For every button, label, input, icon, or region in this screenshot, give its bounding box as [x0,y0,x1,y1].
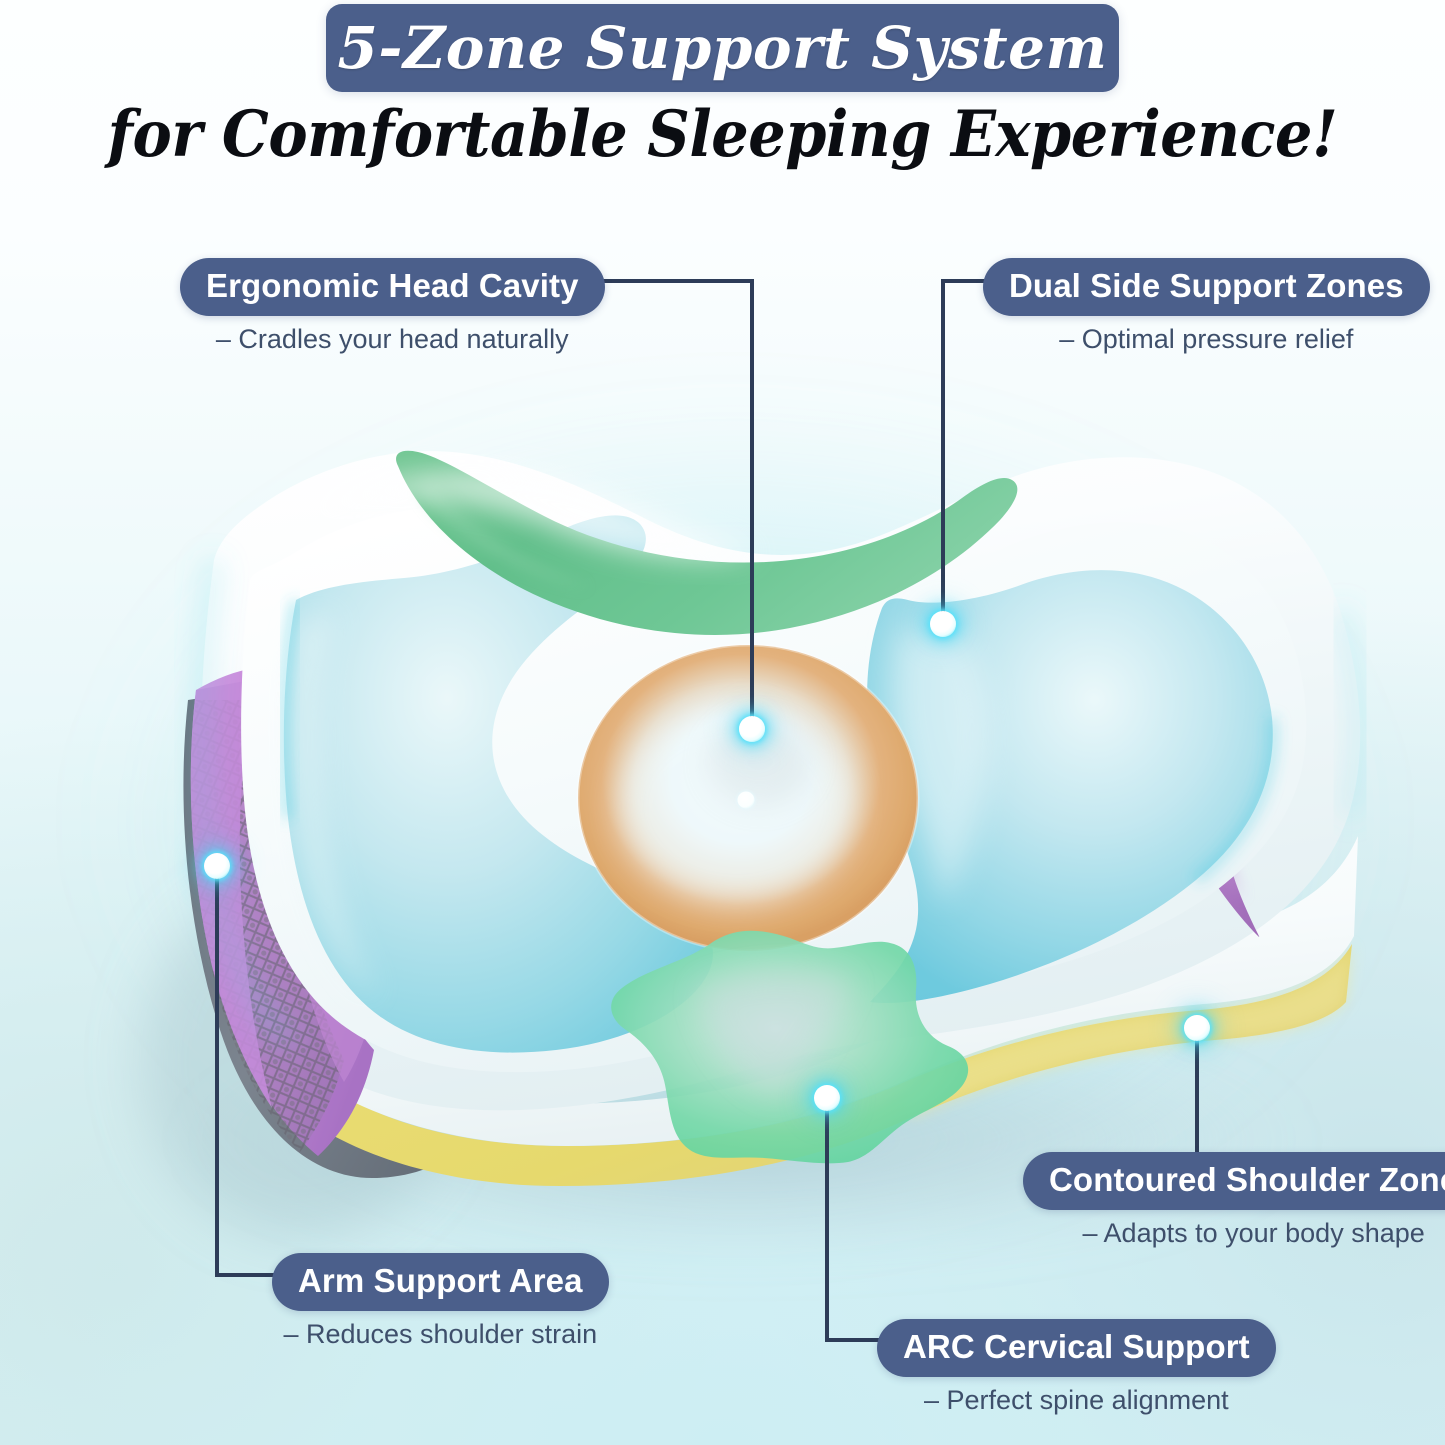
callout-label-arc-cervical-support[interactable]: ARC Cervical Support – Perfect spine ali… [877,1319,1276,1418]
callout-subtitle-ergonomic-head-cavity: – Cradles your head naturally [180,321,605,357]
callout-label-arm-support-area[interactable]: Arm Support Area – Reduces shoulder stra… [272,1253,609,1352]
callout-dot-dual-side-support-zones[interactable] [930,611,956,637]
callout-title-dual-side-support-zones: Dual Side Support Zones [1009,266,1404,306]
callout-label-contoured-shoulder-zone[interactable]: Contoured Shoulder Zone – Adapts to your… [1023,1152,1445,1251]
callout-subtitle-contoured-shoulder-zone: – Adapts to your body shape [1023,1215,1445,1251]
page-subtitle: for Comfortable Sleeping Experience! [58,96,1387,174]
callout-subtitle-arm-support-area: – Reduces shoulder strain [272,1316,609,1352]
callout-label-ergonomic-head-cavity[interactable]: Ergonomic Head Cavity – Cradles your hea… [180,258,605,357]
callout-pill-dual-side-support-zones[interactable]: Dual Side Support Zones [983,258,1430,316]
callout-pill-ergonomic-head-cavity[interactable]: Ergonomic Head Cavity [180,258,605,316]
callout-dot-arm-support-area[interactable] [204,853,230,879]
callout-dot-head-cavity-center [738,792,755,809]
callout-dot-ergonomic-head-cavity[interactable] [739,716,765,742]
callout-title-arc-cervical-support: ARC Cervical Support [903,1327,1250,1367]
callout-subtitle-arc-cervical-support: – Perfect spine alignment [877,1382,1276,1418]
page-title: 5-Zone Support System [326,4,1119,92]
callout-pill-arm-support-area[interactable]: Arm Support Area [272,1253,609,1311]
callout-label-dual-side-support-zones[interactable]: Dual Side Support Zones – Optimal pressu… [983,258,1430,357]
infographic-canvas: 5-Zone Support System for Comfortable Sl… [0,0,1445,1445]
callout-dot-arc-cervical-support[interactable] [814,1085,840,1111]
callout-pill-arc-cervical-support[interactable]: ARC Cervical Support [877,1319,1276,1377]
callout-title-ergonomic-head-cavity: Ergonomic Head Cavity [206,266,579,306]
callout-dot-contoured-shoulder-zone[interactable] [1184,1015,1210,1041]
callout-title-arm-support-area: Arm Support Area [298,1261,583,1301]
callout-subtitle-dual-side-support-zones: – Optimal pressure relief [983,321,1430,357]
callout-title-contoured-shoulder-zone: Contoured Shoulder Zone [1049,1160,1445,1200]
callout-pill-contoured-shoulder-zone[interactable]: Contoured Shoulder Zone [1023,1152,1445,1210]
title-badge: 5-Zone Support System [326,4,1119,92]
